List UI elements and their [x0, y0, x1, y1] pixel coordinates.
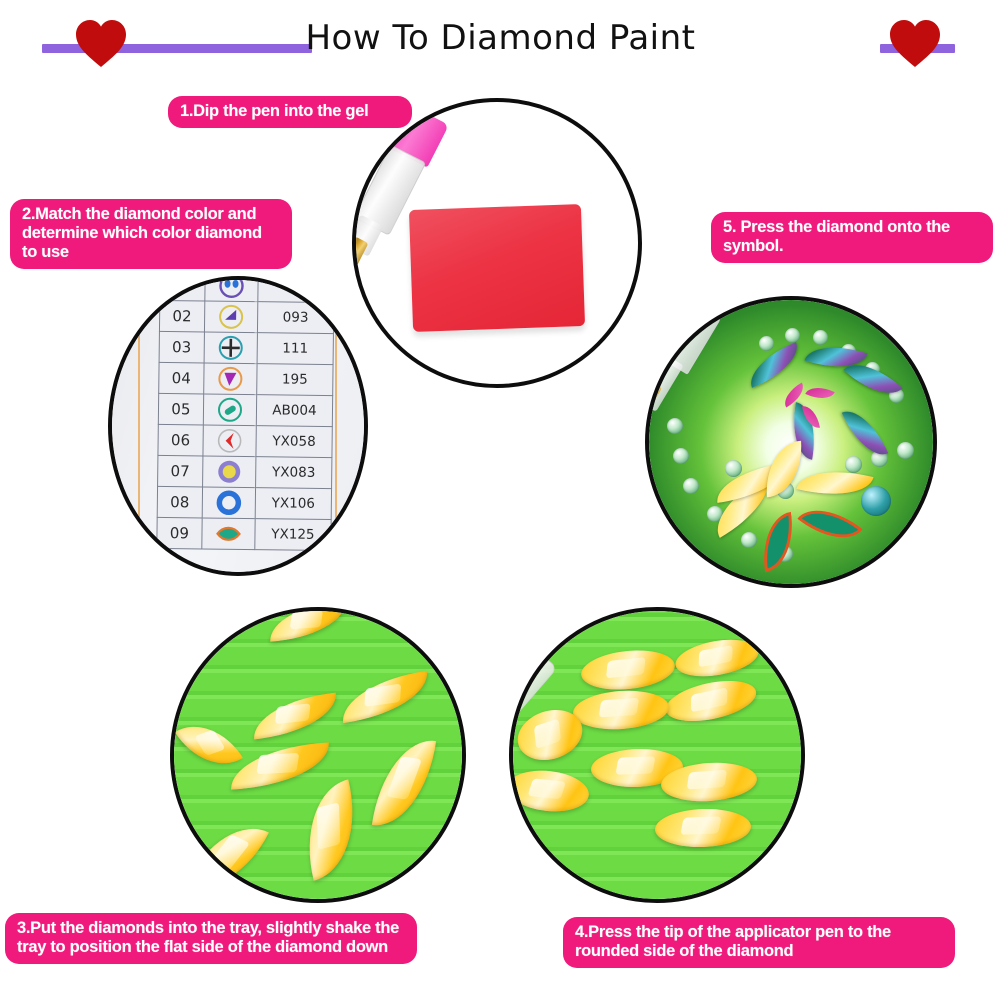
chart-row-code: AB004	[256, 395, 332, 427]
chart-row-code: YX106	[255, 488, 331, 520]
chart-row-number	[160, 280, 205, 301]
chart-row-code: YX083	[255, 457, 331, 489]
chart-row-code: YX058	[256, 426, 332, 458]
page-title: How To Diamond Paint	[0, 18, 1001, 58]
table-row: 05 AB004	[158, 393, 332, 426]
table-row: 08 YX106	[157, 486, 331, 519]
canvas-gem-dot	[813, 330, 828, 345]
chart-row-code: 195	[257, 364, 333, 396]
chart-symbol-ring-icon	[202, 487, 255, 519]
table-row: 07 YX083	[158, 455, 332, 488]
chart-row-number: 09	[157, 517, 202, 549]
canvas-gem-dot	[897, 442, 914, 459]
canvas-gem-dot	[683, 478, 699, 494]
photo-pen-picking-diamond	[509, 607, 805, 903]
canvas-gem-dot	[725, 460, 742, 477]
chart-margin-line-right	[335, 280, 337, 572]
step-1-label: 1.Dip the pen into the gel	[168, 96, 412, 128]
chart-symbol-dot-icon	[202, 456, 255, 488]
photo-pressing-diamond-canvas	[645, 296, 937, 588]
table-row: 09 YX125	[157, 517, 331, 550]
photo-pen-dipping-in-gel	[352, 98, 642, 388]
chart-row-number: 04	[159, 362, 204, 394]
canvas-gem-dot	[673, 448, 689, 464]
photo-diamonds-in-green-tray	[170, 607, 466, 903]
table-row: 04 195	[159, 362, 333, 395]
chart-symbol-eyes-icon	[205, 280, 258, 302]
red-gel-pad	[409, 204, 585, 332]
canvas-gem-dot-teal	[861, 486, 891, 516]
step-2-label: 2.Match the diamond color and determine …	[10, 199, 292, 269]
chart-symbol-plus-icon	[204, 332, 257, 364]
photo-color-chart-legend: 028 02 093 03 111 04	[108, 276, 368, 576]
chart-row-code: 093	[257, 302, 333, 334]
canvas-gem-dot	[785, 328, 800, 343]
chart-symbol-leaf-icon	[202, 518, 255, 550]
photo-inner	[356, 102, 638, 384]
photo-inner	[174, 611, 462, 899]
color-chart-table: 028 02 093 03 111 04	[156, 280, 334, 551]
chart-row-number: 05	[158, 393, 203, 425]
photo-inner	[649, 300, 933, 584]
canvas-gem-dot	[759, 336, 774, 351]
chart-row-number: 02	[159, 300, 204, 332]
chart-margin-line-left	[138, 280, 140, 572]
chart-symbol-capsule-icon	[203, 394, 256, 426]
page-header: How To Diamond Paint	[0, 0, 1001, 90]
chart-row-number: 07	[158, 455, 203, 487]
chart-row-code: 111	[257, 333, 333, 365]
chart-row-number: 06	[158, 424, 203, 456]
chart-symbol-wedge-icon	[203, 363, 256, 395]
chart-symbol-triangle-icon	[204, 301, 257, 333]
chart-row-code: 028	[258, 280, 334, 303]
table-row: 028	[160, 280, 334, 303]
table-row: 02 093	[159, 300, 333, 333]
photo-inner: 028 02 093 03 111 04	[112, 280, 364, 572]
table-row: 03 111	[159, 331, 333, 364]
chart-row-code: YX125	[255, 519, 331, 551]
table-row: 06 YX058	[158, 424, 332, 457]
canvas-gem-dot	[667, 418, 683, 434]
step-3-label: 3.Put the diamonds into the tray, slight…	[5, 913, 417, 964]
step-5-label: 5. Press the diamond onto the symbol.	[711, 212, 993, 263]
step-4-label: 4.Press the tip of the applicator pen to…	[563, 917, 955, 968]
chart-row-number: 08	[157, 486, 202, 518]
canvas-gem-dot	[741, 532, 757, 548]
chart-symbol-arrow-icon	[203, 425, 256, 457]
chart-row-number: 03	[159, 331, 204, 363]
canvas-gem-dot	[845, 456, 862, 473]
photo-inner	[513, 611, 801, 899]
